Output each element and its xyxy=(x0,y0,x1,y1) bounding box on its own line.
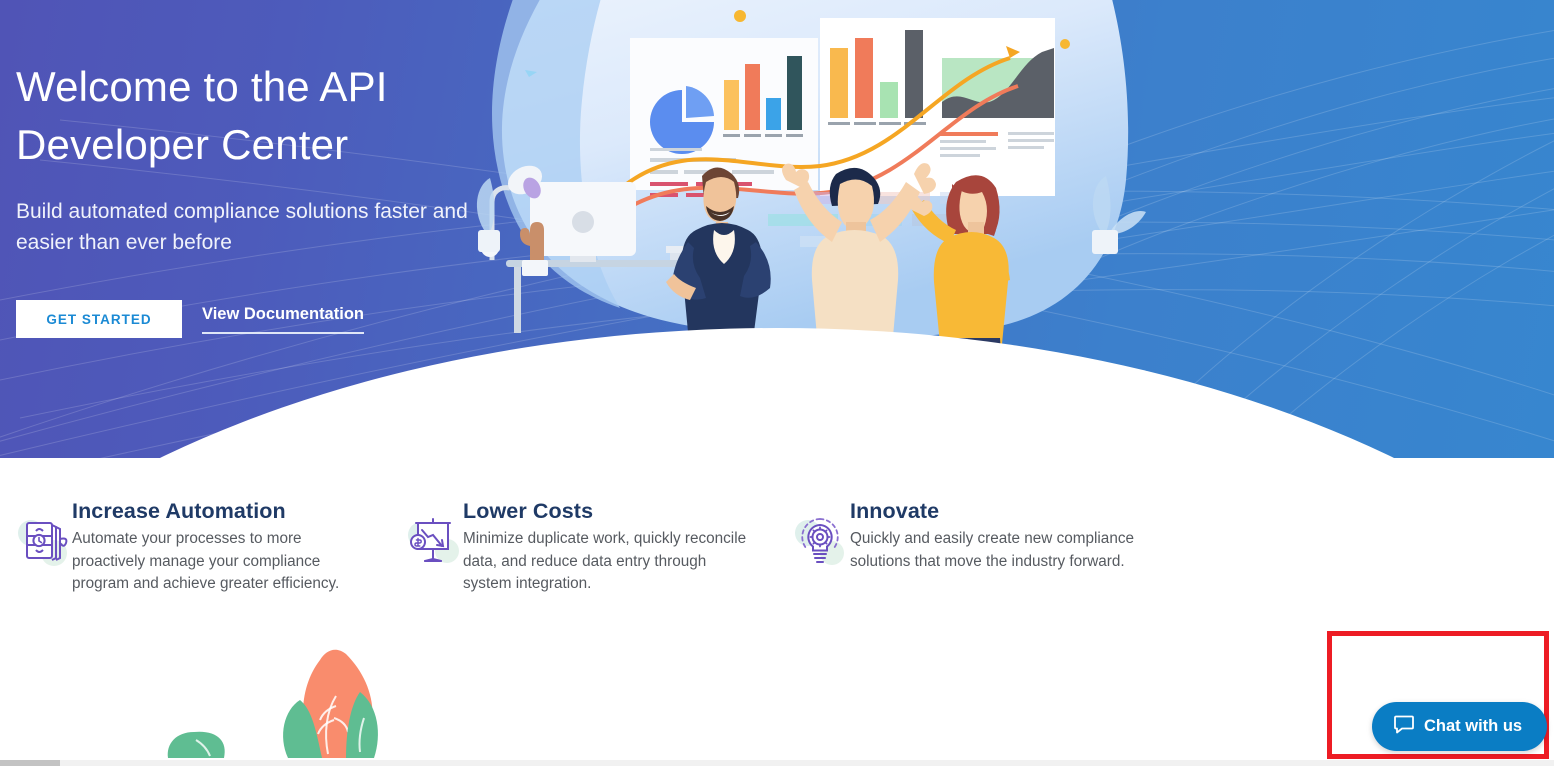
chat-button-label: Chat with us xyxy=(1424,717,1522,736)
feature-card-increase-automation: Increase Automation Automate your proces… xyxy=(0,495,400,596)
feature-title: Lower Costs xyxy=(463,497,753,525)
feature-description: Minimize duplicate work, quickly reconci… xyxy=(463,528,753,596)
hero-section: Welcome to the API Developer Center Buil… xyxy=(0,0,1554,458)
hero-actions: GET STARTED View Documentation xyxy=(16,300,486,338)
feature-title: Increase Automation xyxy=(72,497,372,525)
feature-body: Lower Costs Minimize duplicate work, qui… xyxy=(463,495,753,596)
get-started-button[interactable]: GET STARTED xyxy=(16,300,182,338)
features-section: Increase Automation Automate your proces… xyxy=(0,495,1554,596)
page-title: Welcome to the API Developer Center xyxy=(16,58,486,174)
document-stack-clock-icon xyxy=(14,511,72,573)
hero-bottom-arc xyxy=(0,328,1554,458)
horizontal-scrollbar-track[interactable] xyxy=(0,760,1554,766)
chat-with-us-button[interactable]: Chat with us xyxy=(1372,702,1547,751)
view-documentation-link[interactable]: View Documentation xyxy=(202,305,364,334)
presentation-declining-chart-dollar-icon xyxy=(405,511,463,573)
lightbulb-gear-icon xyxy=(792,511,850,573)
feature-body: Innovate Quickly and easily create new c… xyxy=(850,495,1140,573)
feature-title: Innovate xyxy=(850,497,1140,525)
accent-dot xyxy=(734,10,746,22)
horizontal-scrollbar-thumb[interactable] xyxy=(0,760,60,766)
speech-bubble-icon xyxy=(1394,715,1414,739)
feature-description: Quickly and easily create new compliance… xyxy=(850,528,1140,573)
feature-card-innovate: Innovate Quickly and easily create new c… xyxy=(792,495,1192,573)
hero-subtitle: Build automated compliance solutions fas… xyxy=(16,196,486,258)
feature-body: Increase Automation Automate your proces… xyxy=(72,495,372,596)
feature-description: Automate your processes to more proactiv… xyxy=(72,528,372,596)
decorative-leaves xyxy=(150,648,450,758)
feature-card-lower-costs: Lower Costs Minimize duplicate work, qui… xyxy=(400,495,792,596)
hero-content: Welcome to the API Developer Center Buil… xyxy=(16,58,486,338)
page-root: Welcome to the API Developer Center Buil… xyxy=(0,0,1554,766)
